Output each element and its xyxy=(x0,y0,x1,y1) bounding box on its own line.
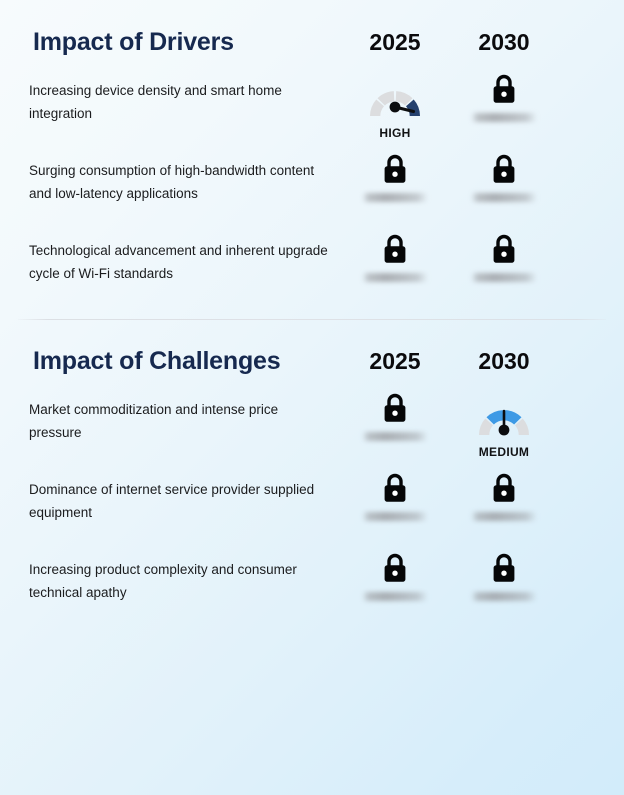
lock-icon xyxy=(489,551,519,585)
cell-2025 xyxy=(340,551,450,601)
locked-value[interactable] xyxy=(449,232,559,282)
row-label: Increasing device density and smart home… xyxy=(29,79,334,125)
lock-icon xyxy=(489,471,519,505)
locked-value[interactable] xyxy=(449,152,559,202)
lock-icon xyxy=(380,471,410,505)
lock-icon xyxy=(489,72,519,106)
locked-value[interactable] xyxy=(340,471,450,521)
blurred-placeholder-bar xyxy=(471,512,537,521)
locked-value[interactable] xyxy=(449,551,559,601)
blurred-placeholder-bar xyxy=(471,592,537,601)
row-label: Technological advancement and inherent u… xyxy=(29,239,334,285)
table-row: Surging consumption of high-bandwidth co… xyxy=(0,159,624,239)
section-header: Impact of Challenges 2025 2030 xyxy=(0,340,624,382)
blurred-placeholder-bar xyxy=(362,273,428,282)
row-label: Market commoditization and intense price… xyxy=(29,398,334,444)
table-row: Market commoditization and intense price… xyxy=(0,398,624,478)
blurred-placeholder-bar xyxy=(362,193,428,202)
cell-2030 xyxy=(449,471,559,521)
lock-icon xyxy=(380,232,410,266)
cell-2030: MEDIUM xyxy=(449,391,559,459)
cell-2025 xyxy=(340,471,450,521)
cell-2025: HIGH xyxy=(340,72,450,140)
infographic-page: Impact of Drivers 2025 2030 Increasing d… xyxy=(0,0,624,795)
lock-icon xyxy=(489,232,519,266)
blurred-placeholder-bar xyxy=(362,592,428,601)
blurred-placeholder-bar xyxy=(362,432,428,441)
cell-2030 xyxy=(449,72,559,122)
locked-value[interactable] xyxy=(449,72,559,122)
section-title: Impact of Drivers xyxy=(33,21,234,63)
gauge-level-label: MEDIUM xyxy=(479,445,529,459)
row-label: Surging consumption of high-bandwidth co… xyxy=(29,159,334,205)
lock-icon xyxy=(380,391,410,425)
gauge-high: HIGH xyxy=(340,72,450,140)
locked-value[interactable] xyxy=(340,551,450,601)
locked-value[interactable] xyxy=(340,391,450,441)
gauge-medium: MEDIUM xyxy=(449,391,559,459)
lock-icon xyxy=(380,152,410,186)
section-header: Impact of Drivers 2025 2030 xyxy=(0,21,624,63)
lock-icon xyxy=(380,551,410,585)
blurred-placeholder-bar xyxy=(471,113,537,122)
blurred-placeholder-bar xyxy=(362,512,428,521)
table-row: Increasing device density and smart home… xyxy=(0,79,624,159)
column-header-2025: 2025 xyxy=(340,21,450,63)
blurred-placeholder-bar xyxy=(471,193,537,202)
gauge-icon xyxy=(364,72,426,122)
column-header-2030: 2030 xyxy=(449,340,559,382)
table-row: Increasing product complexity and consum… xyxy=(0,558,624,638)
lock-icon xyxy=(489,152,519,186)
section-impact-of-drivers: Impact of Drivers 2025 2030 Increasing d… xyxy=(0,0,624,319)
locked-value[interactable] xyxy=(340,232,450,282)
section-impact-of-challenges: Impact of Challenges 2025 2030 Market co… xyxy=(0,320,624,638)
gauge-icon xyxy=(473,391,535,441)
table-row: Technological advancement and inherent u… xyxy=(0,239,624,319)
blurred-placeholder-bar xyxy=(471,273,537,282)
locked-value[interactable] xyxy=(340,152,450,202)
column-header-2025: 2025 xyxy=(340,340,450,382)
cell-2030 xyxy=(449,152,559,202)
locked-value[interactable] xyxy=(449,471,559,521)
cell-2030 xyxy=(449,551,559,601)
row-label: Increasing product complexity and consum… xyxy=(29,558,334,604)
cell-2030 xyxy=(449,232,559,282)
cell-2025 xyxy=(340,152,450,202)
column-header-2030: 2030 xyxy=(449,21,559,63)
gauge-level-label: HIGH xyxy=(379,126,410,140)
cell-2025 xyxy=(340,232,450,282)
row-label: Dominance of internet service provider s… xyxy=(29,478,334,524)
cell-2025 xyxy=(340,391,450,441)
section-title: Impact of Challenges xyxy=(33,340,280,382)
table-row: Dominance of internet service provider s… xyxy=(0,478,624,558)
